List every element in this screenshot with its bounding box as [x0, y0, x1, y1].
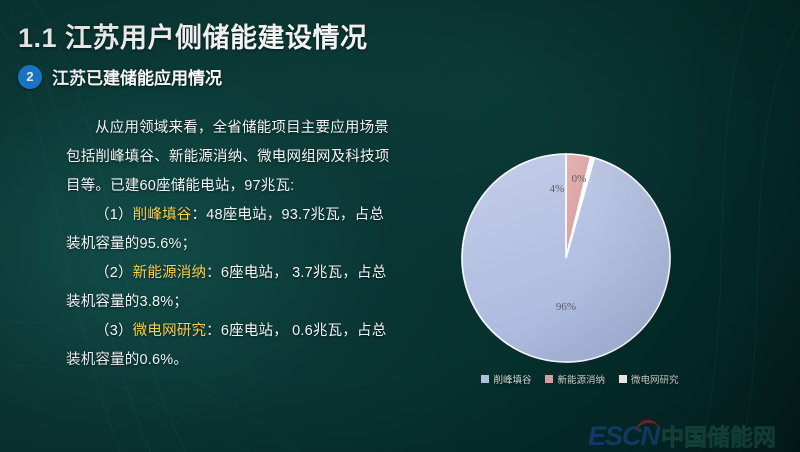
page-title: 1.1 江苏用户侧储能建设情况: [18, 16, 368, 55]
section-heading: 2 江苏已建储能应用情况: [18, 64, 222, 89]
watermark: ESCN 中国储能网: [588, 418, 776, 452]
legend-item: 削峰填谷: [481, 372, 531, 386]
legend-item: 微电网研究: [619, 372, 679, 386]
pie-data-label: 4%: [550, 183, 565, 195]
pie-slice: [462, 154, 670, 362]
legend-item: 新能源消纳: [545, 372, 605, 386]
legend-label: 新能源消纳: [557, 372, 605, 386]
list-item-highlight: 新能源消纳: [133, 265, 207, 281]
list-item-prefix: （2）: [95, 265, 133, 281]
pie-data-label: 96%: [556, 301, 576, 313]
legend-swatch-icon: [545, 375, 553, 383]
list-item: （3）微电网研究：6座电站， 0.6兆瓦，占总装机容量的0.6%。: [66, 317, 396, 375]
list-item-prefix: （3）: [95, 323, 133, 339]
chart-legend: 削峰填谷 新能源消纳 微电网研究: [460, 372, 700, 386]
list-item-prefix: （1）: [95, 207, 133, 223]
legend-label: 微电网研究: [631, 372, 679, 386]
pie-slice-group: [462, 154, 670, 362]
pie-data-label: 0%: [572, 173, 587, 185]
section-title: 江苏已建储能应用情况: [52, 64, 222, 89]
body-text-column: 从应用领域来看，全省储能项目主要应用场景包括削峰填谷、新能源消纳、微电网组网及科…: [66, 114, 396, 375]
list-item: （2）新能源消纳：6座电站， 3.7兆瓦，占总装机容量的3.8%；: [66, 259, 396, 317]
watermark-chinese-text: 中国储能网: [661, 418, 776, 452]
pie-chart-svg: 96%4%0%: [460, 150, 700, 370]
section-number-badge: 2: [18, 65, 42, 89]
list-item-highlight: 削峰填谷: [133, 207, 192, 223]
slide-canvas: 1.1 江苏用户侧储能建设情况 2 江苏已建储能应用情况 从应用领域来看，全省储…: [0, 0, 800, 452]
list-item: （1）削峰填谷：48座电站，93.7兆瓦，占总装机容量的95.6%；: [66, 201, 396, 259]
legend-swatch-icon: [619, 375, 627, 383]
pie-chart: 96%4%0% 削峰填谷 新能源消纳 微电网研究: [460, 150, 700, 400]
intro-paragraph: 从应用领域来看，全省储能项目主要应用场景包括削峰填谷、新能源消纳、微电网组网及科…: [66, 114, 396, 201]
list-item-highlight: 微电网研究: [133, 323, 207, 339]
legend-swatch-icon: [481, 375, 489, 383]
legend-label: 削峰填谷: [493, 372, 531, 386]
